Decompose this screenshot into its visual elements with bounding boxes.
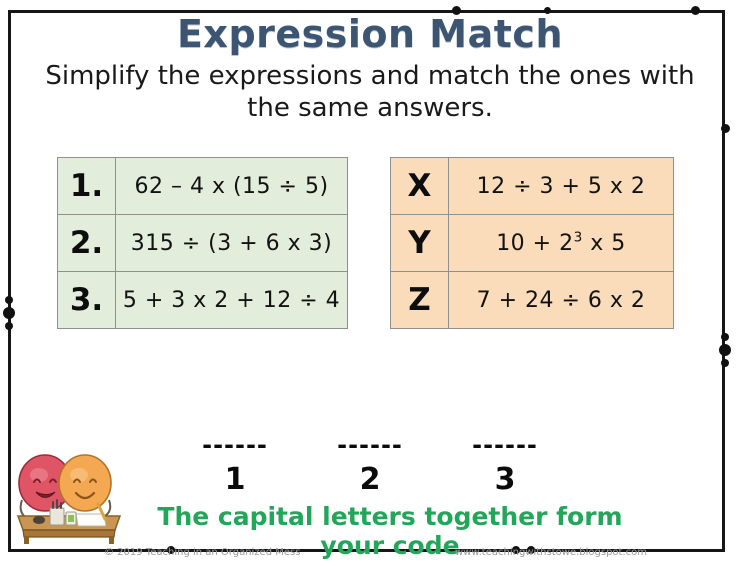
instructions-text: Simplify the expressions and match the o… [32,60,708,124]
pencil-cup [50,508,64,525]
frame-dot-left-3 [5,322,13,330]
frame-dot-right-4 [721,359,729,367]
frame-dot-right-1 [721,124,730,133]
blank-line-3[interactable]: ------ [460,436,550,454]
table-row: 3. 5 + 3 x 2 + 12 ÷ 4 [58,272,348,329]
row-label-y: Y [391,215,449,272]
blank-number-2: 2 [325,462,415,497]
website-text: www.teachingwithstowe.blogspot.com [455,547,647,558]
table-row: Z 7 + 24 ÷ 6 x 2 [391,272,674,329]
row-label-2: 2. [58,215,116,272]
paper-sheet [76,514,106,526]
orange-character-head [59,455,111,511]
copyright-text: © 2019 Teaching in an Organized Mess [104,547,300,558]
row-expression-x: 12 ÷ 3 + 5 x 2 [449,158,674,215]
blank-number-1: 1 [190,462,280,497]
row-expression-1: 62 – 4 x (15 ÷ 5) [116,158,348,215]
row-label-x: X [391,158,449,215]
expression-table-lettered: X 12 ÷ 3 + 5 x 2 Y 10 + 23 x 5 Z 7 + 24 … [390,157,674,329]
blank-number-3: 3 [460,462,550,497]
frame-dot-right-3 [719,344,731,356]
row-label-z: Z [391,272,449,329]
desk-edge [23,530,115,537]
answer-blanks-row: ------ 1 ------ 2 ------ 3 [190,436,550,497]
expression-table-numbered: 1. 62 – 4 x (15 ÷ 5) 2. 315 ÷ (3 + 6 x 3… [57,157,348,329]
desk-leg-left [24,537,29,544]
row-expression-2: 315 ÷ (3 + 6 x 3) [116,215,348,272]
answer-blank-1[interactable]: ------ 1 [190,436,280,497]
table-row: X 12 ÷ 3 + 5 x 2 [391,158,674,215]
row-label-1: 1. [58,158,116,215]
expression-tail: x 5 [583,231,626,256]
answer-blank-3[interactable]: ------ 3 [460,436,550,497]
row-expression-3: 5 + 3 x 2 + 12 ÷ 4 [116,272,348,329]
frame-dot-right-2 [721,333,729,341]
blank-line-2[interactable]: ------ [325,436,415,454]
frame-dot-left-2 [3,307,15,319]
table-row: 2. 315 ÷ (3 + 6 x 3) [58,215,348,272]
frame-dot-left-1 [5,296,13,304]
row-label-3: 3. [58,272,116,329]
table-row: Y 10 + 23 x 5 [391,215,674,272]
row-expression-z: 7 + 24 ÷ 6 x 2 [449,272,674,329]
table-row: 1. 62 – 4 x (15 ÷ 5) [58,158,348,215]
expression-exponent: 3 [574,229,583,245]
inkwell [33,516,45,524]
blank-line-1[interactable]: ------ [190,436,280,454]
jar-label [68,515,74,522]
worksheet-page: Expression Match Simplify the expression… [0,0,740,566]
expression-base: 10 + 2 [496,231,573,256]
page-title: Expression Match [0,12,740,56]
students-at-desk-clipart [10,442,128,546]
row-expression-y: 10 + 23 x 5 [449,215,674,272]
desk-leg-right [109,537,114,544]
answer-blank-2[interactable]: ------ 2 [325,436,415,497]
